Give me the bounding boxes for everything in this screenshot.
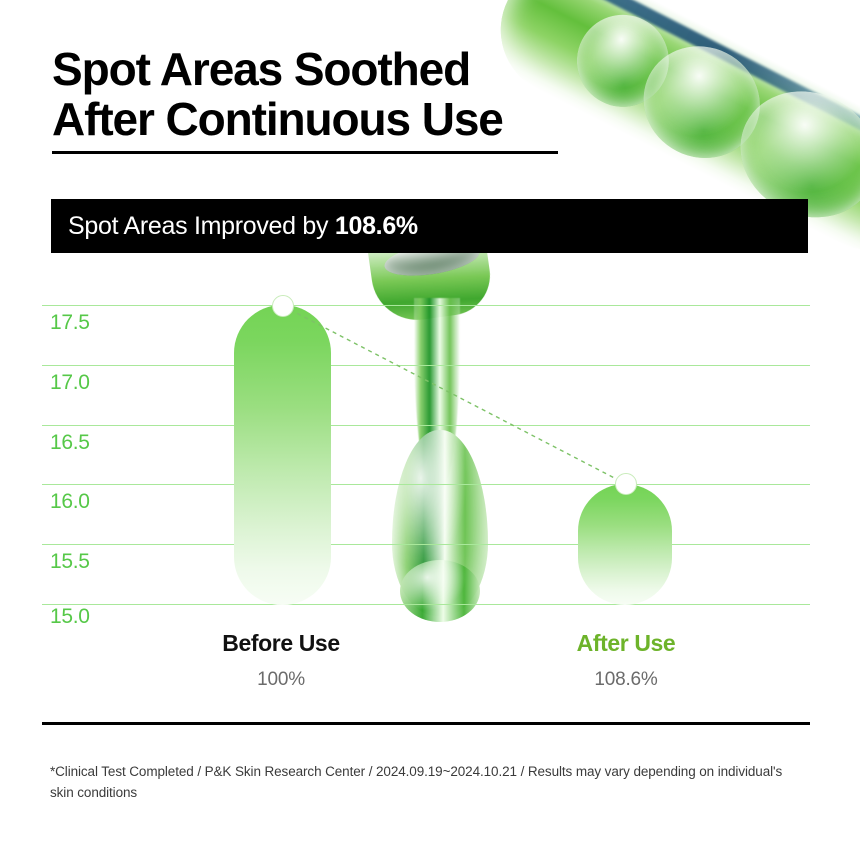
x-label-name: After Use	[577, 630, 676, 657]
headline-line-2: After Continuous Use	[52, 93, 503, 145]
bar-fill	[578, 484, 672, 605]
x-label-percent: 108.6%	[577, 669, 676, 691]
footnote-text: *Clinical Test Completed / P&K Skin Rese…	[50, 762, 790, 804]
y-axis-tick-label: 15.5	[50, 550, 90, 574]
gridline	[42, 425, 810, 426]
result-banner-highlight: 108.6%	[335, 212, 418, 240]
result-banner-prefix: Spot Areas Improved by	[68, 212, 335, 240]
headline-line-1: Spot Areas Soothed	[52, 43, 470, 95]
y-axis-tick-label: 17.0	[50, 371, 90, 395]
gridline	[42, 484, 810, 485]
bar-before-use	[234, 305, 331, 605]
x-label-name: Before Use	[222, 630, 339, 657]
x-axis-label-before-use: Before Use 100%	[222, 630, 339, 691]
result-banner-text: Spot Areas Improved by 108.6%	[51, 212, 418, 241]
data-point-marker-before	[272, 295, 294, 317]
x-axis-label-after-use: After Use 108.6%	[577, 630, 676, 691]
bar-fill	[234, 305, 331, 605]
result-banner: Spot Areas Improved by 108.6%	[51, 199, 808, 253]
footer-divider	[42, 722, 810, 725]
y-axis-tick-label: 15.0	[50, 605, 90, 629]
gridline	[42, 604, 810, 605]
gridline	[42, 365, 810, 366]
bar-after-use	[578, 484, 672, 605]
gridline	[42, 305, 810, 306]
promo-infographic: Spot Areas Soothed After Continuous Use …	[0, 0, 860, 860]
headline-underline	[52, 151, 558, 154]
headline-block: Spot Areas Soothed After Continuous Use	[52, 45, 612, 154]
x-label-percent: 100%	[222, 669, 339, 691]
y-axis-tick-label: 16.5	[50, 431, 90, 455]
y-axis-tick-label: 17.5	[50, 311, 90, 335]
y-axis-tick-label: 16.0	[50, 490, 90, 514]
gridline	[42, 544, 810, 545]
page-title: Spot Areas Soothed After Continuous Use	[52, 45, 612, 144]
data-point-marker-after	[615, 473, 637, 495]
